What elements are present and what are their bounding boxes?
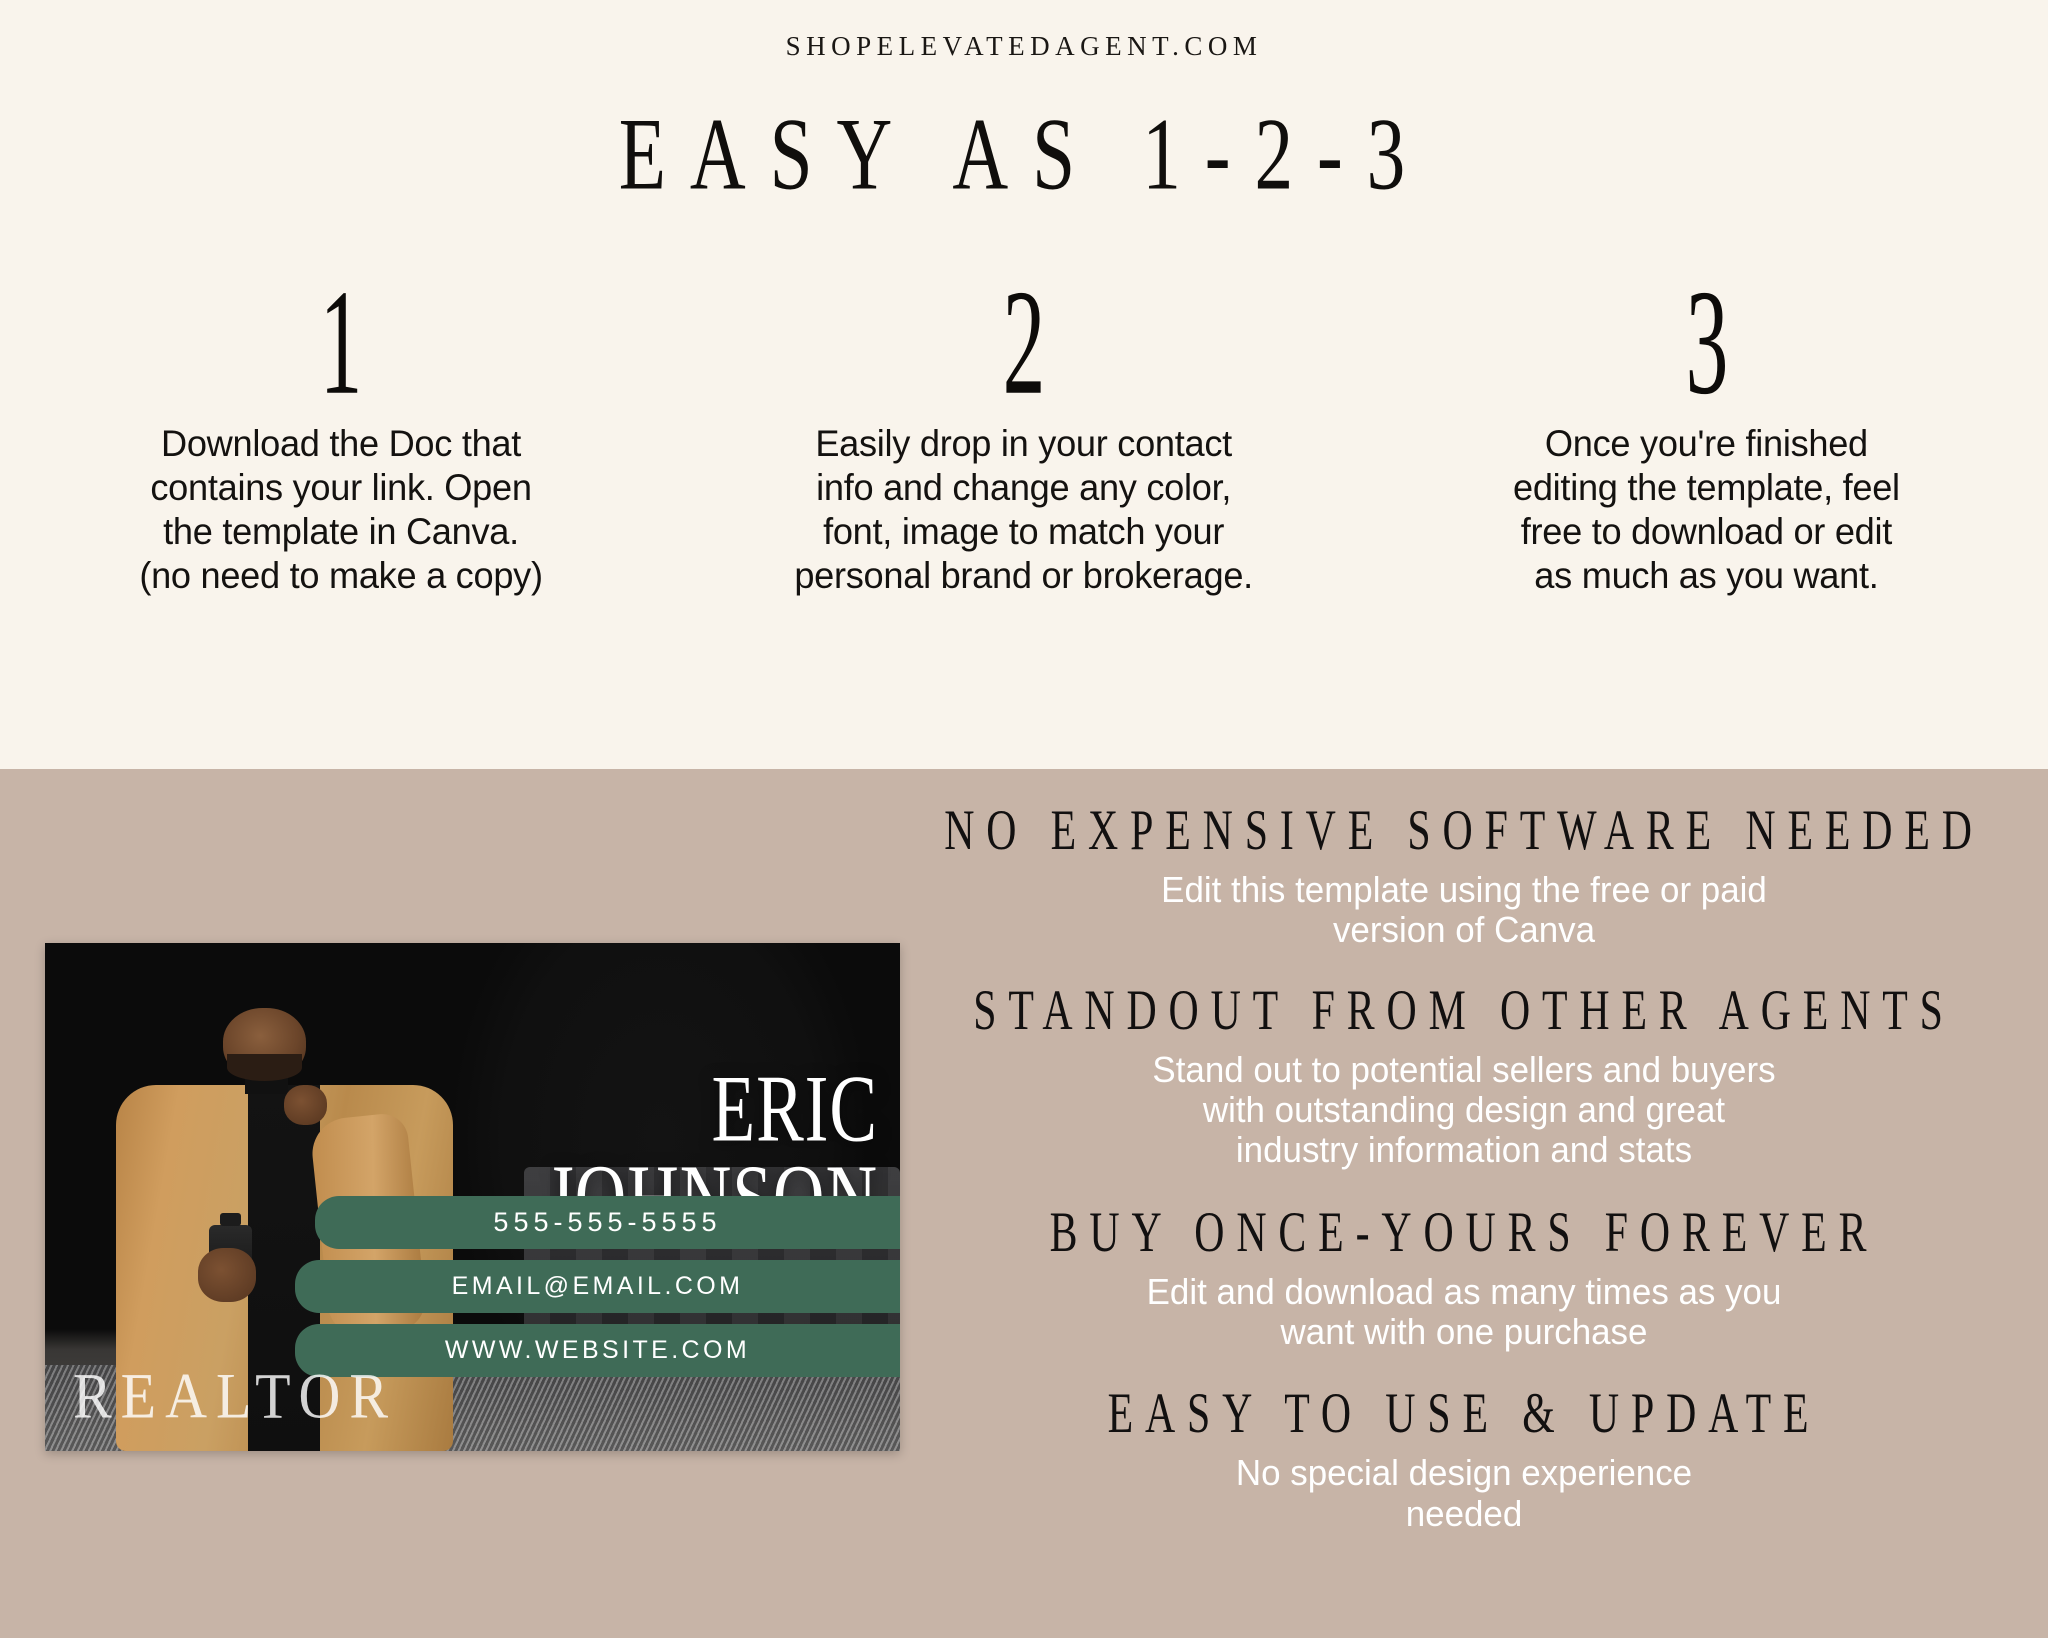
feature-title: BUY ONCE-YOURS FOREVER [909, 1199, 2019, 1265]
page-title: EASY AS 1-2-3 [82, 96, 1966, 214]
feature-item-1: NO EXPENSIVE SOFTWARE NEEDED Edit this t… [880, 797, 2048, 951]
hand-phone-shape [284, 1085, 327, 1126]
card-email-bar: EMAIL@EMAIL.COM [295, 1260, 900, 1313]
feature-body: Edit and download as many times as you w… [898, 1272, 2031, 1353]
feature-title: NO EXPENSIVE SOFTWARE NEEDED [909, 797, 2019, 863]
beard-shape [227, 1054, 302, 1081]
feature-item-4: EASY TO USE & UPDATE No special design e… [880, 1380, 2048, 1534]
card-email-text: EMAIL@EMAIL.COM [452, 1272, 744, 1301]
card-contact-bars: 555-555-5555 EMAIL@EMAIL.COM WWW.WEBSITE… [45, 1196, 900, 1377]
instructions-section: SHOPELEVATEDAGENT.COM EASY AS 1-2-3 1 Do… [0, 0, 2048, 769]
step-description: Easily drop in your contact info and cha… [795, 422, 1254, 598]
feature-item-2: STANDOUT FROM OTHER AGENTS Stand out to … [880, 977, 2048, 1171]
site-url: SHOPELEVATEDAGENT.COM [0, 31, 2048, 62]
card-phone-bar: 555-555-5555 [315, 1196, 900, 1249]
step-number: 2 [1003, 268, 1046, 425]
feature-body: Stand out to potential sellers and buyer… [898, 1050, 2031, 1171]
feature-body: No special design experience needed [898, 1453, 2031, 1534]
card-role-label: REALTOR [73, 1358, 397, 1433]
feature-title: STANDOUT FROM OTHER AGENTS [909, 977, 2019, 1043]
step-number: 1 [320, 268, 363, 425]
business-card-preview: ERIC JOHNSON 555-555-5555 EMAIL@EMAIL.CO… [45, 943, 900, 1451]
feature-body: Edit this template using the free or pai… [898, 870, 2031, 951]
benefits-section: ERIC JOHNSON 555-555-5555 EMAIL@EMAIL.CO… [0, 769, 2048, 1638]
step-description: Once you're finished editing the templat… [1513, 422, 1900, 598]
feature-list: NO EXPENSIVE SOFTWARE NEEDED Edit this t… [880, 789, 2048, 1534]
step-item-2: 2 Easily drop in your contact info and c… [683, 268, 1366, 648]
step-item-1: 1 Download the Doc that contains your li… [0, 268, 683, 648]
step-description: Download the Doc that contains your link… [140, 422, 543, 598]
step-number: 3 [1685, 268, 1728, 425]
feature-title: EASY TO USE & UPDATE [909, 1380, 2019, 1446]
step-item-3: 3 Once you're finished editing the templ… [1365, 268, 2048, 648]
steps-row: 1 Download the Doc that contains your li… [0, 268, 2048, 648]
card-website-text: WWW.WEBSITE.COM [445, 1336, 750, 1365]
card-phone-text: 555-555-5555 [493, 1207, 721, 1238]
feature-item-3: BUY ONCE-YOURS FOREVER Edit and download… [880, 1199, 2048, 1353]
